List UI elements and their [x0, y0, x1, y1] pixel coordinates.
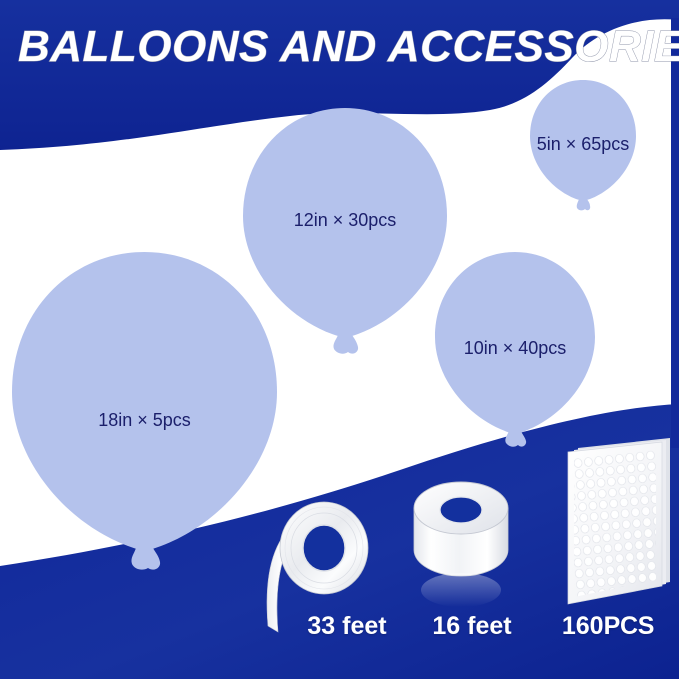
- caption-clear-tape-length: 16 feet: [412, 612, 532, 641]
- balloon-knot-shape: [505, 431, 526, 447]
- balloon-10in[interactable]: 10in × 40pcs: [432, 250, 598, 452]
- balloon-body-shape: [12, 252, 277, 550]
- clear-tape-roll-icon: [404, 478, 520, 610]
- glue-dot-count-unit: PCS: [604, 612, 655, 640]
- tape-reflection-shape: [421, 573, 501, 607]
- right-edge-blue-strip: [671, 18, 679, 448]
- balloon-body-shape: [435, 252, 595, 433]
- glue-dot-sheets[interactable]: [548, 432, 674, 610]
- caption-ribbon-tape-length: 33 feet: [282, 612, 412, 641]
- balloon-12in[interactable]: 12in × 30pcs: [240, 106, 450, 360]
- balloon-5in[interactable]: 5in × 65pcs: [528, 78, 638, 214]
- balloon-body-shape: [243, 108, 447, 337]
- balloon-knot-shape: [333, 335, 358, 354]
- glue-dot-count-number: 160: [562, 612, 604, 640]
- product-infographic-poster: BALLOONS AND ACCESSORIES 18in × 5pcs 12i…: [0, 0, 679, 679]
- glue-dot-sheet-icon: [548, 432, 674, 610]
- balloon-knot-shape: [131, 548, 160, 570]
- balloon-body-shape: [530, 80, 636, 200]
- caption-glue-dot-count: 160PCS: [540, 612, 676, 641]
- balloon-knot-shape: [577, 199, 590, 210]
- clear-tape-roll[interactable]: [404, 478, 520, 610]
